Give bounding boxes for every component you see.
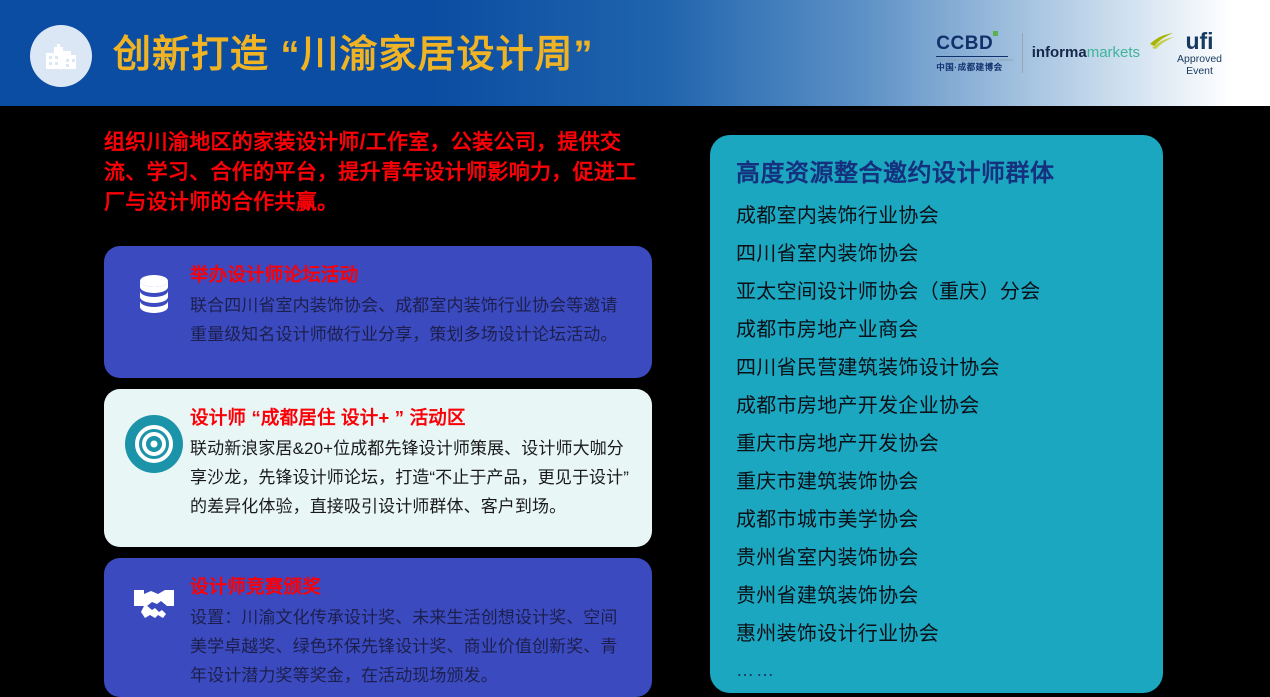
list-item: 惠州装饰设计行业协会 <box>736 615 1137 653</box>
list-item: 亚太空间设计师协会（重庆）分会 <box>736 273 1137 311</box>
card-designer-zone: 设计师 “成都居住 设计+ ” 活动区 联动新浪家居&20+位成都先锋设计师策展… <box>104 389 652 547</box>
ufi-event-label: Event <box>1177 65 1222 77</box>
slide-header: 创新打造 “川渝家居设计周” CCBD China Chengdu Buildi… <box>0 0 1270 106</box>
logo-cluster: CCBD China Chengdu Building and Decorati… <box>936 28 1222 78</box>
list-item: 贵州省室内装饰协会 <box>736 539 1137 577</box>
ccbd-divider-rule <box>936 56 1008 57</box>
intro-paragraph: 组织川渝地区的家装设计师/工作室，公装公司，提供交流、学习、合作的平台，提升青年… <box>104 128 652 218</box>
database-icon <box>118 262 190 362</box>
list-item: 成都市城市美学协会 <box>736 501 1137 539</box>
list-item: 重庆市房地产开发协会 <box>736 425 1137 463</box>
ufi-approved-event-logo: ufi Approved Event <box>1149 30 1222 77</box>
panel-title: 高度资源整合邀约设计师群体 <box>736 157 1137 191</box>
card-title: 设计师 “成都居住 设计+ ” 活动区 <box>190 405 632 431</box>
slide-body: 组织川渝地区的家装设计师/工作室，公装公司，提供交流、学习、合作的平台，提升青年… <box>0 106 1270 697</box>
logo-separator <box>1022 33 1023 73</box>
ufi-approved-label: Approved <box>1177 53 1222 65</box>
list-item: 成都市房地产开发企业协会 <box>736 387 1137 425</box>
ccbd-english-name: China Chengdu Building and Decoration Ex… <box>936 58 1012 62</box>
factory-building-icon <box>30 25 92 87</box>
ccbd-logo: CCBD China Chengdu Building and Decorati… <box>936 34 1012 73</box>
ccbd-chinese-name: 中国·成都建博会 <box>936 62 1012 73</box>
card-text: 联合四川省室内装饰协会、成都室内装饰行业协会等邀请重量级知名设计师做行业分享，策… <box>190 291 632 349</box>
list-item: 成都室内装饰行业协会 <box>736 197 1137 235</box>
ufi-swoosh-icon <box>1149 30 1175 52</box>
handshake-icon <box>118 574 190 681</box>
list-ellipsis: …… <box>736 653 1137 687</box>
card-title: 举办设计师论坛活动 <box>190 262 632 288</box>
markets-word: markets <box>1087 44 1140 61</box>
card-title: 设计师竞赛颁奖 <box>190 574 632 600</box>
resource-panel: 高度资源整合邀约设计师群体 成都室内装饰行业协会 四川省室内装饰协会 亚太空间设… <box>710 135 1163 693</box>
informa-word: informa <box>1032 44 1087 61</box>
list-item: 四川省民营建筑装饰设计协会 <box>736 349 1137 387</box>
list-item: 重庆市建筑装饰协会 <box>736 463 1137 501</box>
list-item: 四川省室内装饰协会 <box>736 235 1137 273</box>
ufi-wordmark: ufi <box>1177 30 1222 53</box>
list-item: 成都市房地产业商会 <box>736 311 1137 349</box>
page-title: 创新打造 “川渝家居设计周” <box>113 30 594 80</box>
informa-markets-logo: informamarkets <box>1032 45 1140 61</box>
card-text: 设置：川渝文化传承设计奖、未来生活创想设计奖、空间美学卓越奖、绿色环保先锋设计奖… <box>190 603 632 690</box>
card-text: 联动新浪家居&20+位成都先锋设计师策展、设计师大咖分享沙龙，先锋设计师论坛，打… <box>190 434 632 521</box>
ccbd-accent-dot <box>993 31 998 36</box>
ccbd-wordmark: CCBD <box>936 34 993 53</box>
list-item: 贵州省建筑装饰协会 <box>736 577 1137 615</box>
card-designer-award: 设计师竞赛颁奖 设置：川渝文化传承设计奖、未来生活创想设计奖、空间美学卓越奖、绿… <box>104 558 652 697</box>
card-designer-forum: 举办设计师论坛活动 联合四川省室内装饰协会、成都室内装饰行业协会等邀请重量级知名… <box>104 246 652 378</box>
target-bullseye-icon <box>118 405 190 531</box>
